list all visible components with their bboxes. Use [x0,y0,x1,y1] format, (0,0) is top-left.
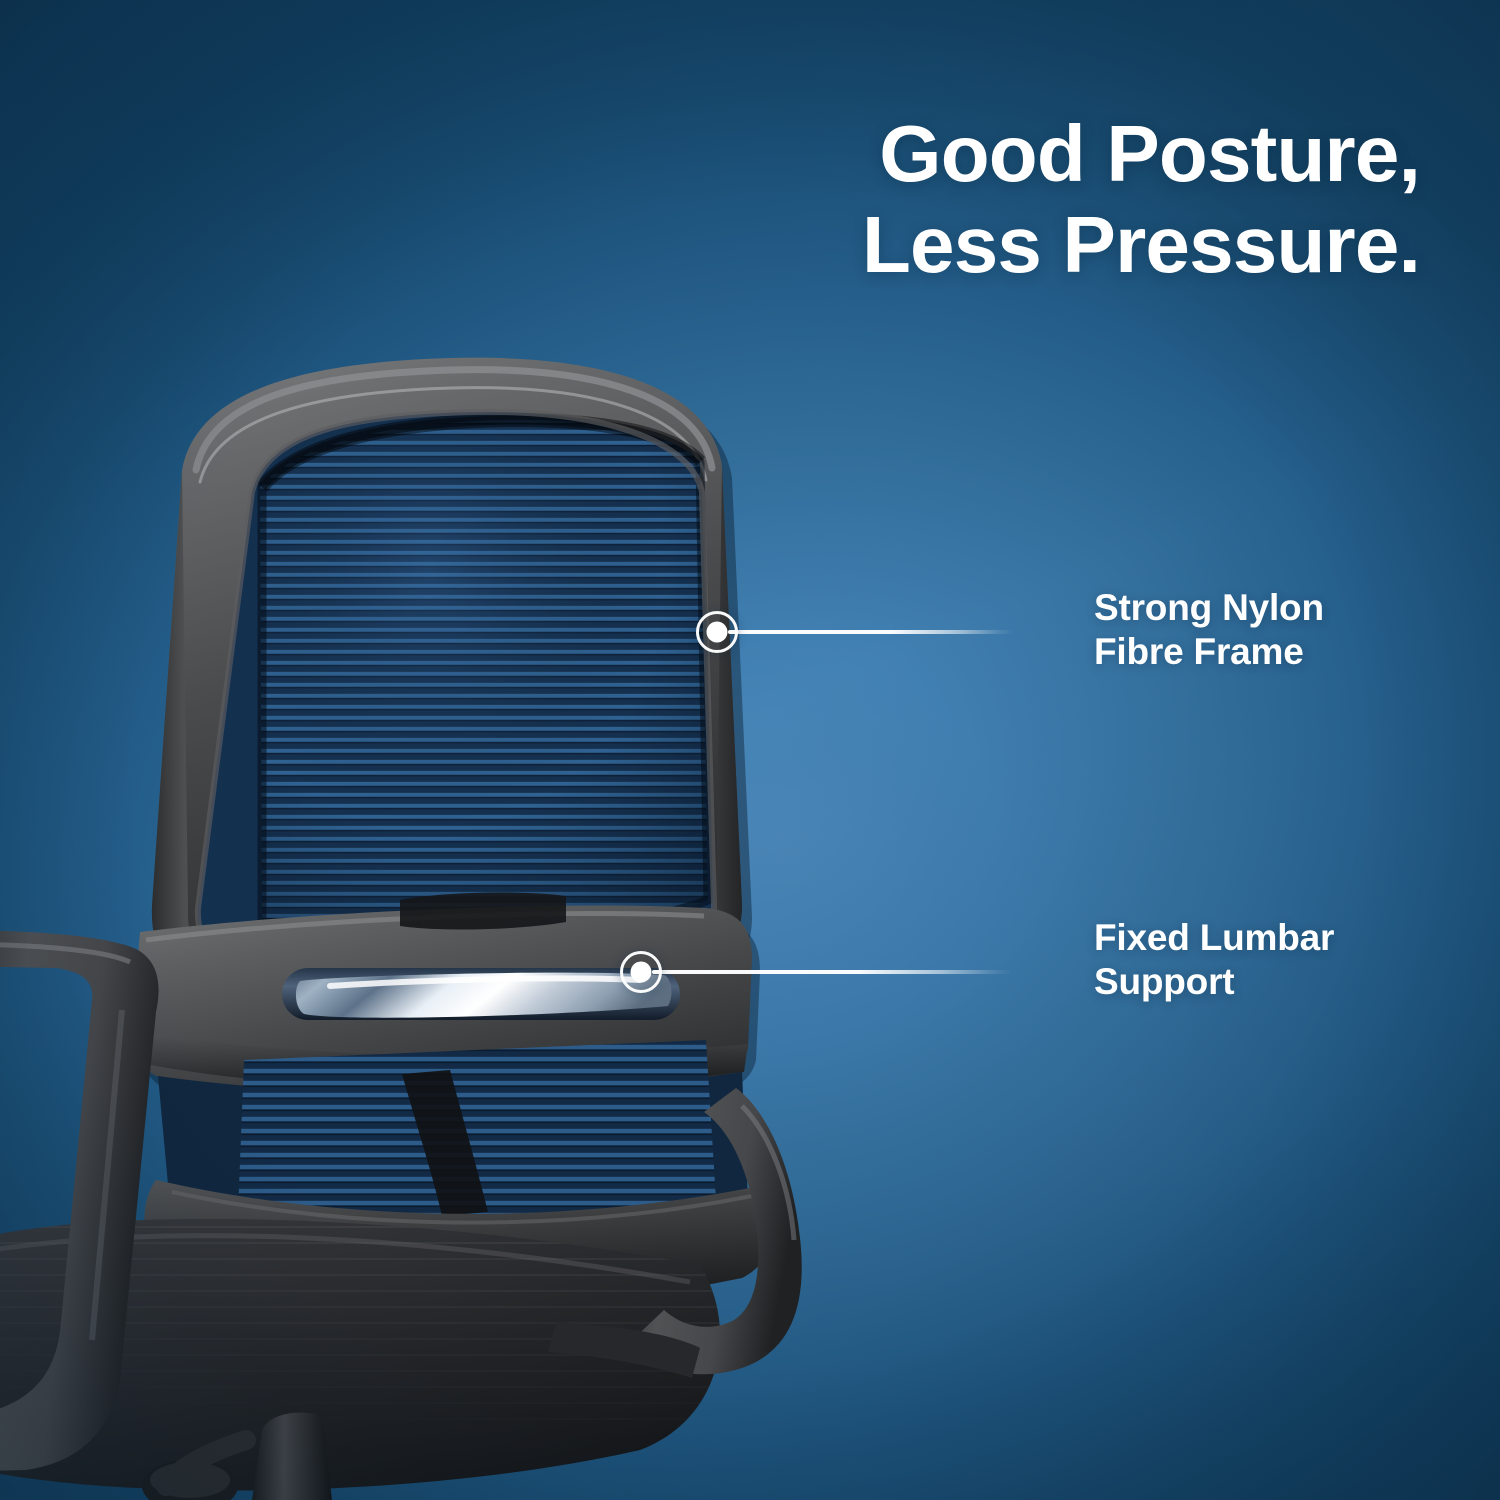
headline-line-2: Less Pressure. [862,199,1420,290]
callout-lumbar-line-2: Support [1094,960,1334,1004]
callout-frame-line-1: Strong Nylon [1094,586,1324,630]
headline-line-1: Good Posture, [862,108,1420,199]
product-banner: Good Posture, Less Pressure. Strong Nylo… [0,0,1500,1500]
callout-marker-lumbar[interactable] [620,951,662,993]
callout-lumbar-line-1: Fixed Lumbar [1094,916,1334,960]
callout-connector-line-lumbar [652,970,1012,974]
page-title: Good Posture, Less Pressure. [862,108,1420,290]
callout-label-lumbar: Fixed Lumbar Support [1094,916,1334,1005]
callout-frame-line-2: Fibre Frame [1094,630,1324,674]
callout-marker-frame[interactable] [696,611,738,653]
callout-connector-line-frame [728,630,1013,634]
callout-label-frame: Strong Nylon Fibre Frame [1094,586,1324,675]
